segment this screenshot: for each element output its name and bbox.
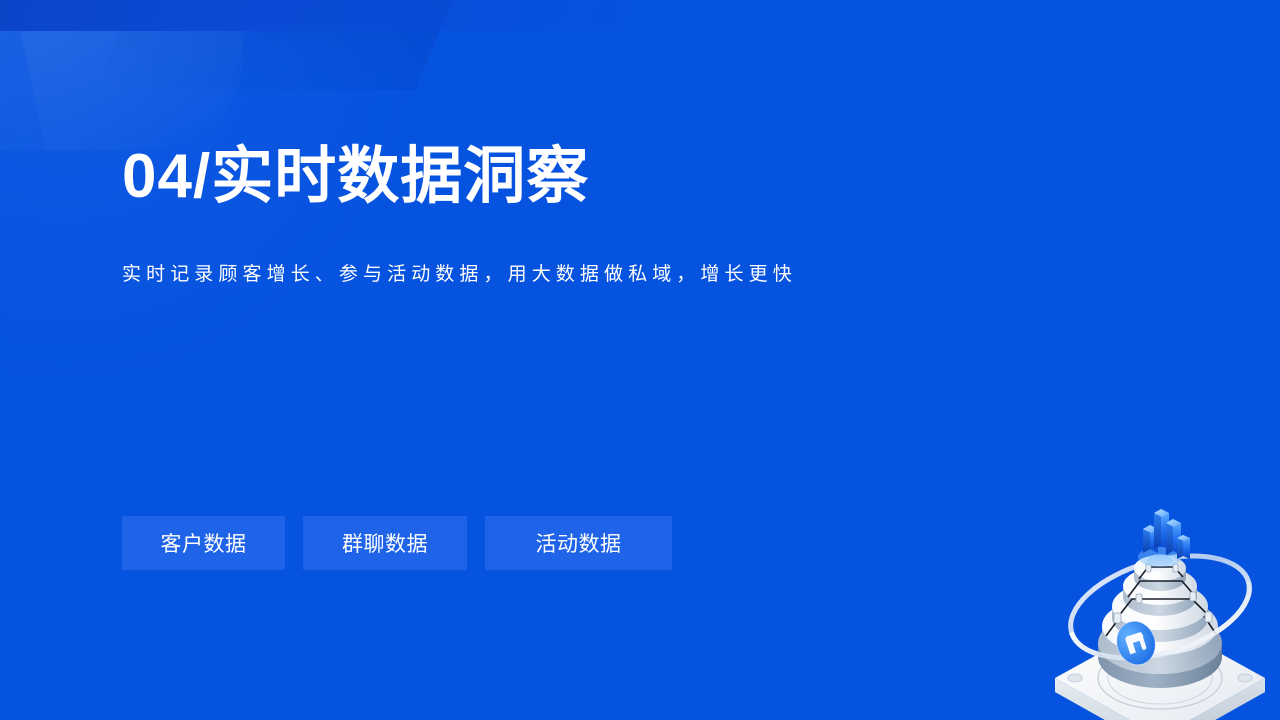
page-subtitle: 实时记录顾客增长、参与活动数据，用大数据做私域，增长更快: [122, 262, 797, 289]
tag-list: 客户数据 群聊数据 活动数据: [122, 516, 672, 570]
text-content: 04/实时数据洞察 实时记录顾客增长、参与活动数据，用大数据做私域，增长更快: [122, 0, 1022, 720]
tag-group-chat-data[interactable]: 群聊数据: [303, 516, 467, 570]
slide-root: 04/实时数据洞察 实时记录顾客增长、参与活动数据，用大数据做私域，增长更快 客…: [0, 0, 1280, 720]
tag-activity-data[interactable]: 活动数据: [485, 516, 672, 570]
data-dome-3d-illustration: [1040, 495, 1280, 720]
page-title: 04/实时数据洞察: [122, 146, 589, 208]
tag-customer-data[interactable]: 客户数据: [122, 516, 285, 570]
